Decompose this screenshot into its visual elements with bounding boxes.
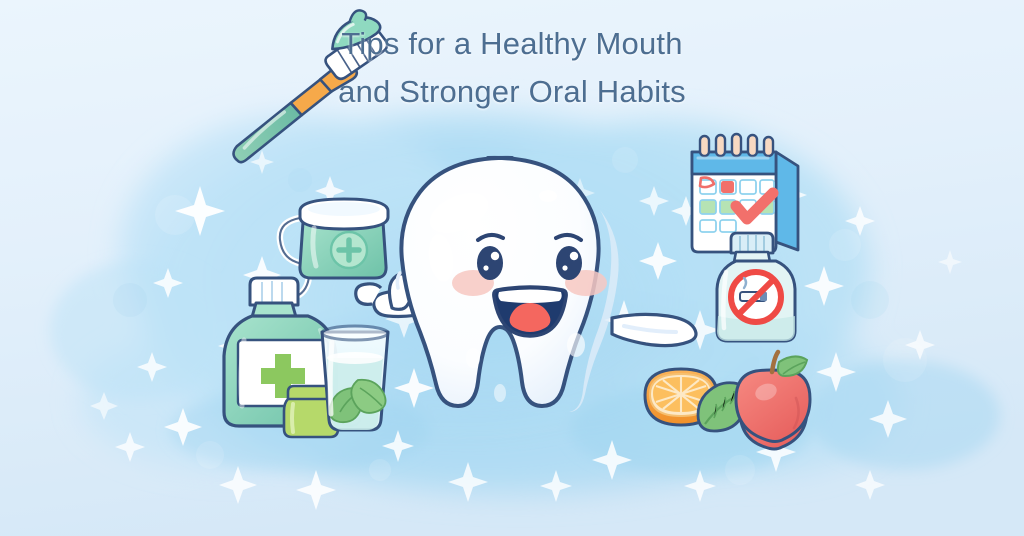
apple-icon	[736, 352, 810, 449]
smiling-tooth-mascot	[356, 158, 696, 412]
scene-layer	[0, 0, 1024, 536]
eye-left	[477, 246, 503, 280]
tooth-right-arm	[612, 314, 696, 345]
eye-right	[556, 246, 582, 280]
water-glass-icon	[322, 326, 388, 430]
illustration-canvas: Tips for a Healthy Mouth and Stronger Or…	[0, 0, 1024, 536]
toothbrush-icon	[201, 4, 406, 164]
